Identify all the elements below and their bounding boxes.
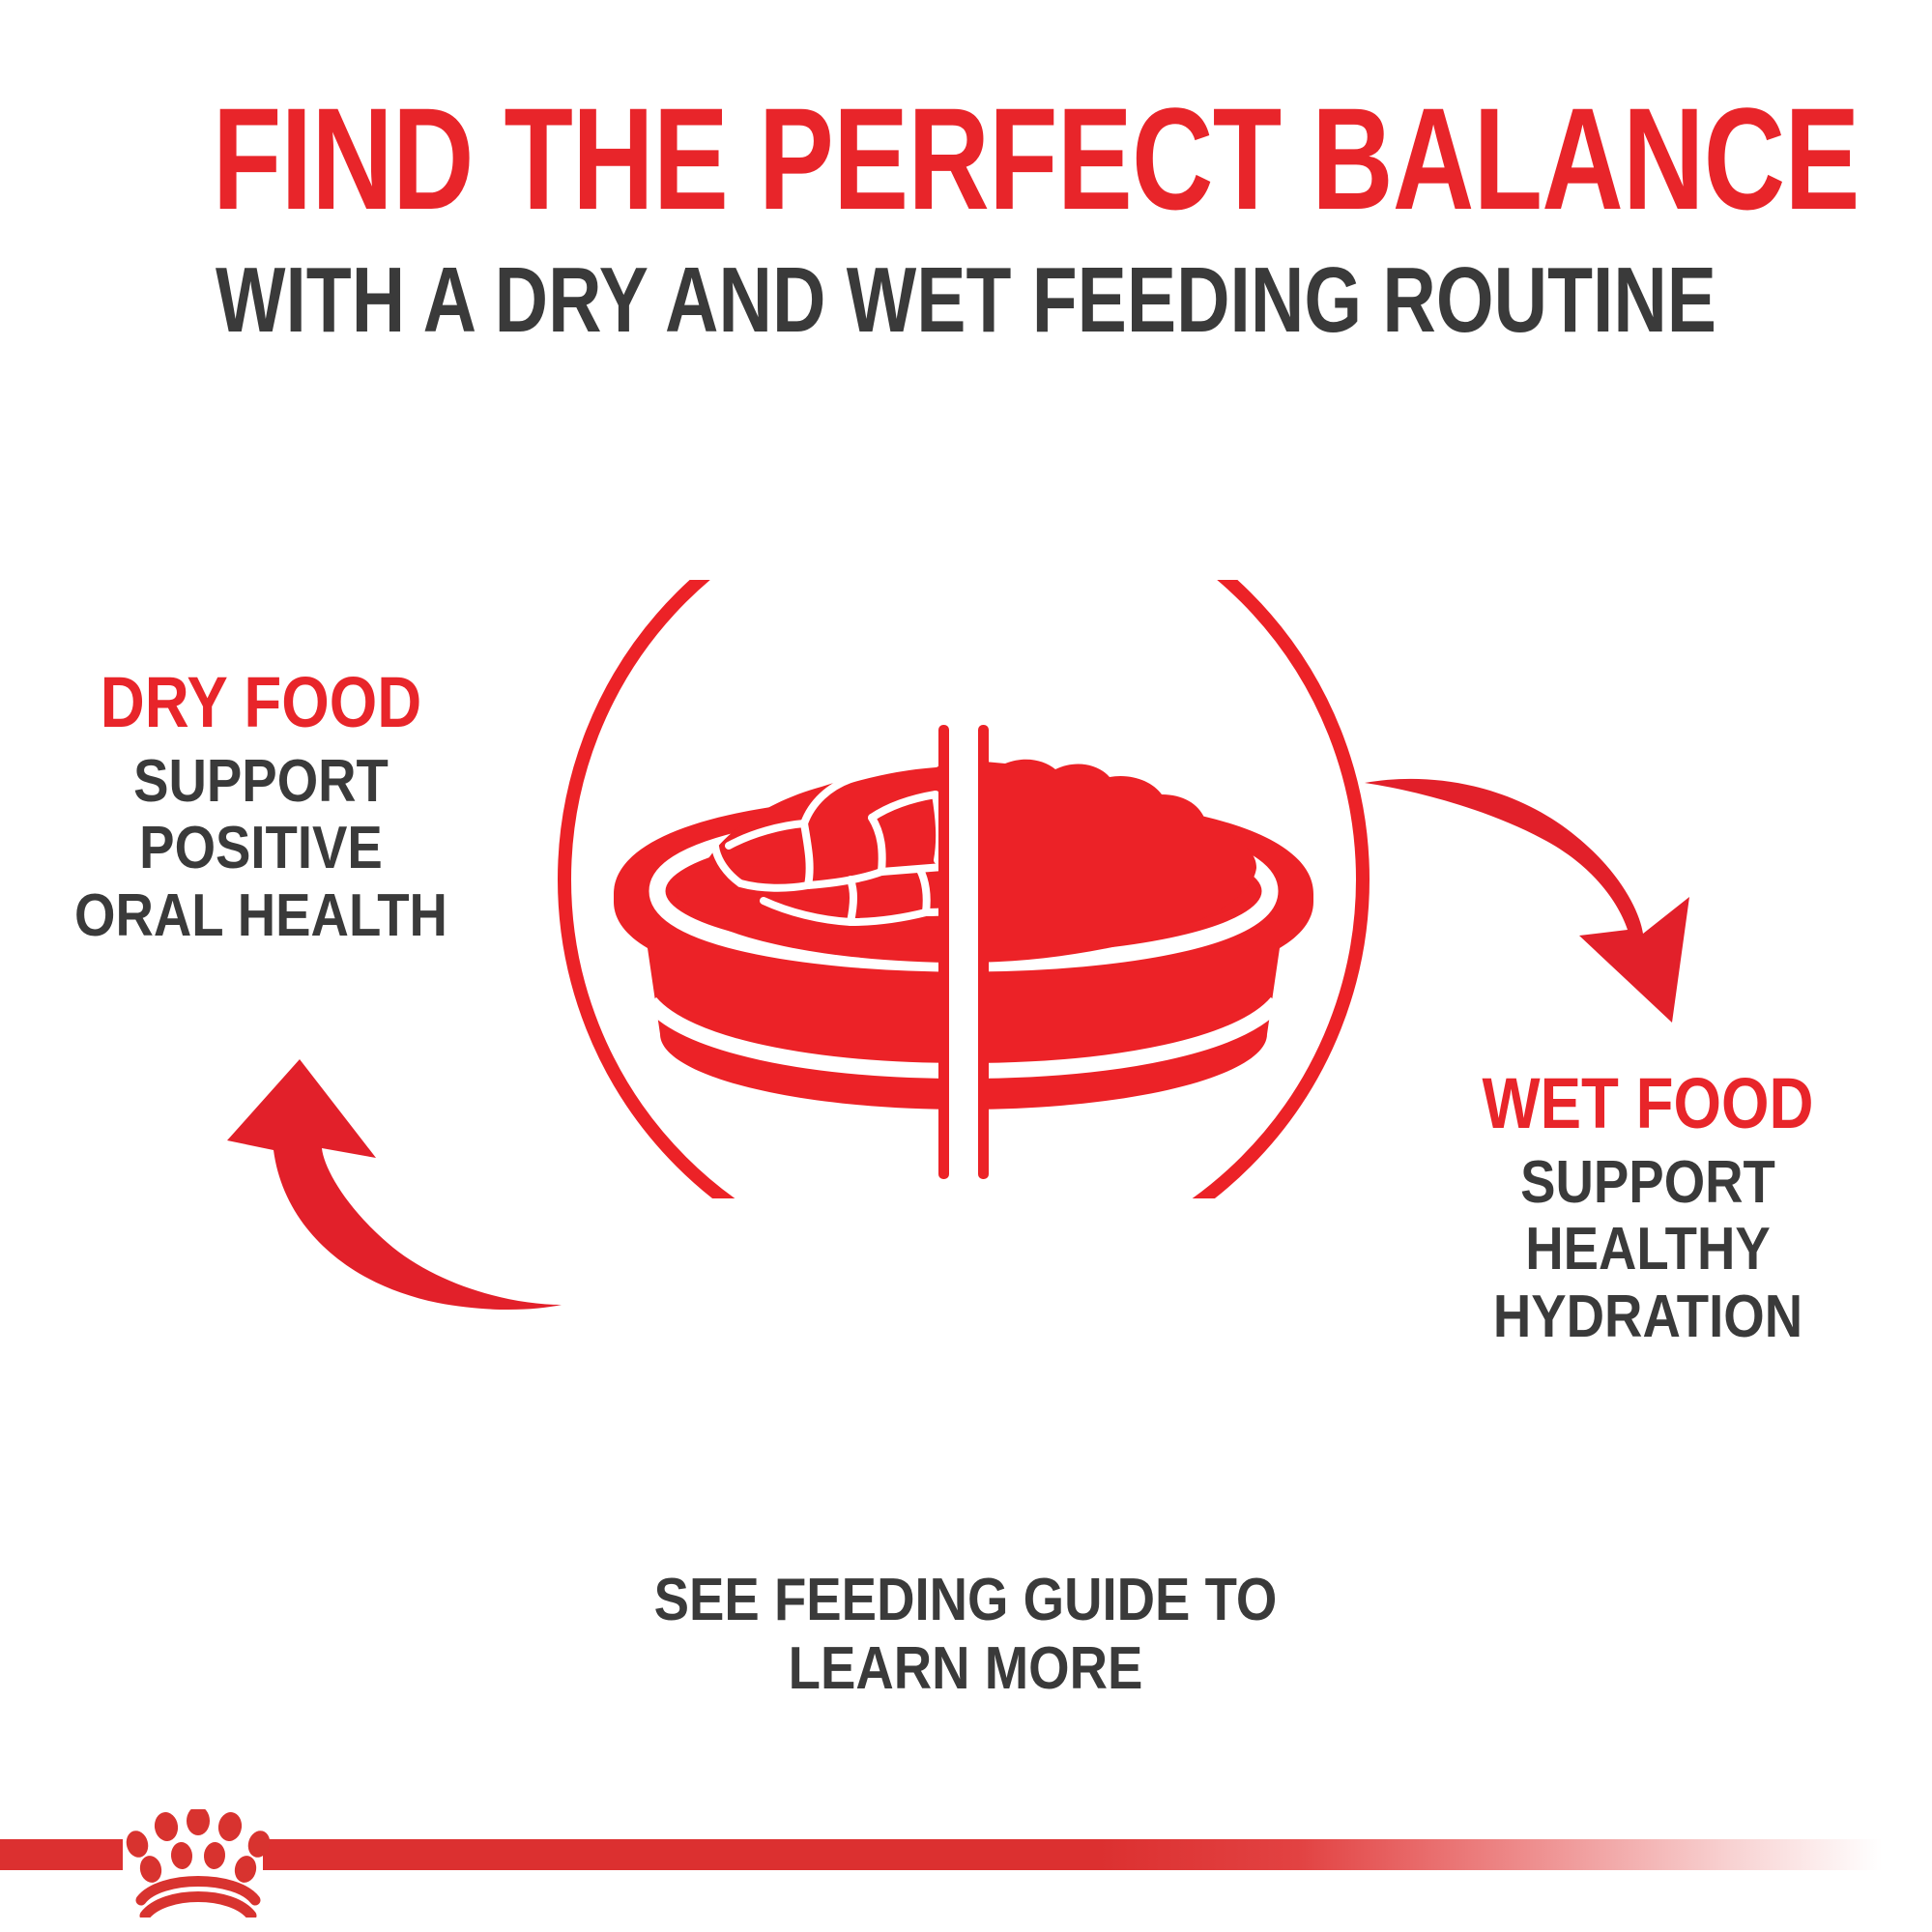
pet-food-bowl-icon [614,725,1313,1179]
poster-canvas: FIND THE PERFECT BALANCE WITH A DRY AND … [0,0,1932,1932]
header-block: FIND THE PERFECT BALANCE WITH A DRY AND … [0,87,1932,347]
callout-wet-food: WET FOOD SUPPORT HEALTHY HYDRATION [1401,1068,1894,1350]
curved-arrow-down-right-icon [1353,744,1740,1073]
callout-dry-food: DRY FOOD SUPPORT POSITIVE ORAL HEALTH [34,667,488,949]
footer-accent-bar-left [0,1839,123,1870]
callout-dry-food-title: DRY FOOD [66,667,456,738]
page-subtitle: WITH A DRY AND WET FEEDING ROUTINE [193,254,1739,347]
callout-dry-food-body: SUPPORT POSITIVE ORAL HEALTH [61,748,461,949]
page-title: FIND THE PERFECT BALANCE [213,87,1719,231]
cta-see-feeding-guide[interactable]: SEE FEEDING GUIDE TO LEARN MORE [625,1566,1306,1704]
split-bowl-illustration [522,580,1411,1198]
footer-accent-bar-right [263,1839,1932,1870]
callout-wet-food-title: WET FOOD [1436,1068,1860,1139]
white-vertical-divider-icon [947,725,980,1179]
callout-wet-food-body: SUPPORT HEALTHY HYDRATION [1431,1149,1865,1350]
royal-canin-crown-logo-icon [126,1809,271,1918]
curved-arrow-up-left-icon [198,1024,565,1353]
